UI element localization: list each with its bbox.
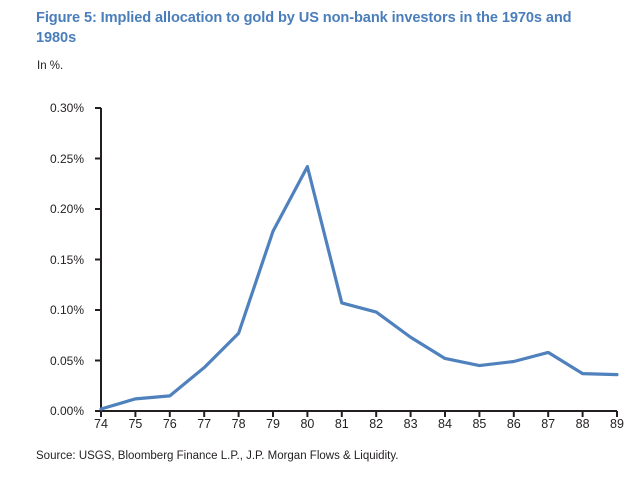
figure-source: Source: USGS, Bloomberg Finance L.P., J.…: [36, 450, 398, 462]
x-axis-tick-label: 85: [472, 417, 486, 431]
x-axis-tick-label: 81: [335, 417, 349, 431]
y-axis-tick-label: 0.15%: [50, 253, 84, 267]
x-axis-tick-label: 79: [266, 417, 280, 431]
y-axis-tick-label: 0.10%: [50, 303, 84, 317]
x-axis-tick-label: 88: [576, 417, 590, 431]
x-axis-tick-label: 80: [300, 417, 314, 431]
x-axis-tick-label: 83: [404, 417, 418, 431]
chart-plot-area: 0.00%0.05%0.10%0.15%0.20%0.25%0.30% 7475…: [0, 86, 636, 436]
x-axis-tick-label: 82: [369, 417, 383, 431]
y-axis-tick-label: 0.05%: [50, 354, 84, 368]
x-axis-tick-label: 87: [541, 417, 555, 431]
x-axis-tick-label: 75: [128, 417, 142, 431]
x-axis-tick-label: 77: [197, 417, 211, 431]
y-axis-tick-label: 0.20%: [50, 202, 84, 216]
x-axis-tick-label: 78: [232, 417, 246, 431]
figure-title: Figure 5: Implied allocation to gold by …: [36, 8, 606, 48]
x-axis-tick-label: 86: [507, 417, 521, 431]
figure-subtitle: In %.: [37, 60, 63, 72]
x-axis-labels: 74757677787980818283848586878889: [0, 411, 636, 441]
x-axis-tick-label: 84: [438, 417, 452, 431]
line-chart-svg: [0, 86, 636, 436]
x-axis-tick-label: 76: [163, 417, 177, 431]
data-series-line: [101, 167, 617, 409]
figure-container: Figure 5: Implied allocation to gold by …: [0, 0, 636, 492]
x-axis-tick-label: 89: [610, 417, 624, 431]
x-axis-tick-label: 74: [94, 417, 108, 431]
y-axis-labels: 0.00%0.05%0.10%0.15%0.20%0.25%0.30%: [24, 86, 84, 436]
y-axis-tick-label: 0.30%: [50, 101, 84, 115]
y-axis-tick-label: 0.25%: [50, 152, 84, 166]
